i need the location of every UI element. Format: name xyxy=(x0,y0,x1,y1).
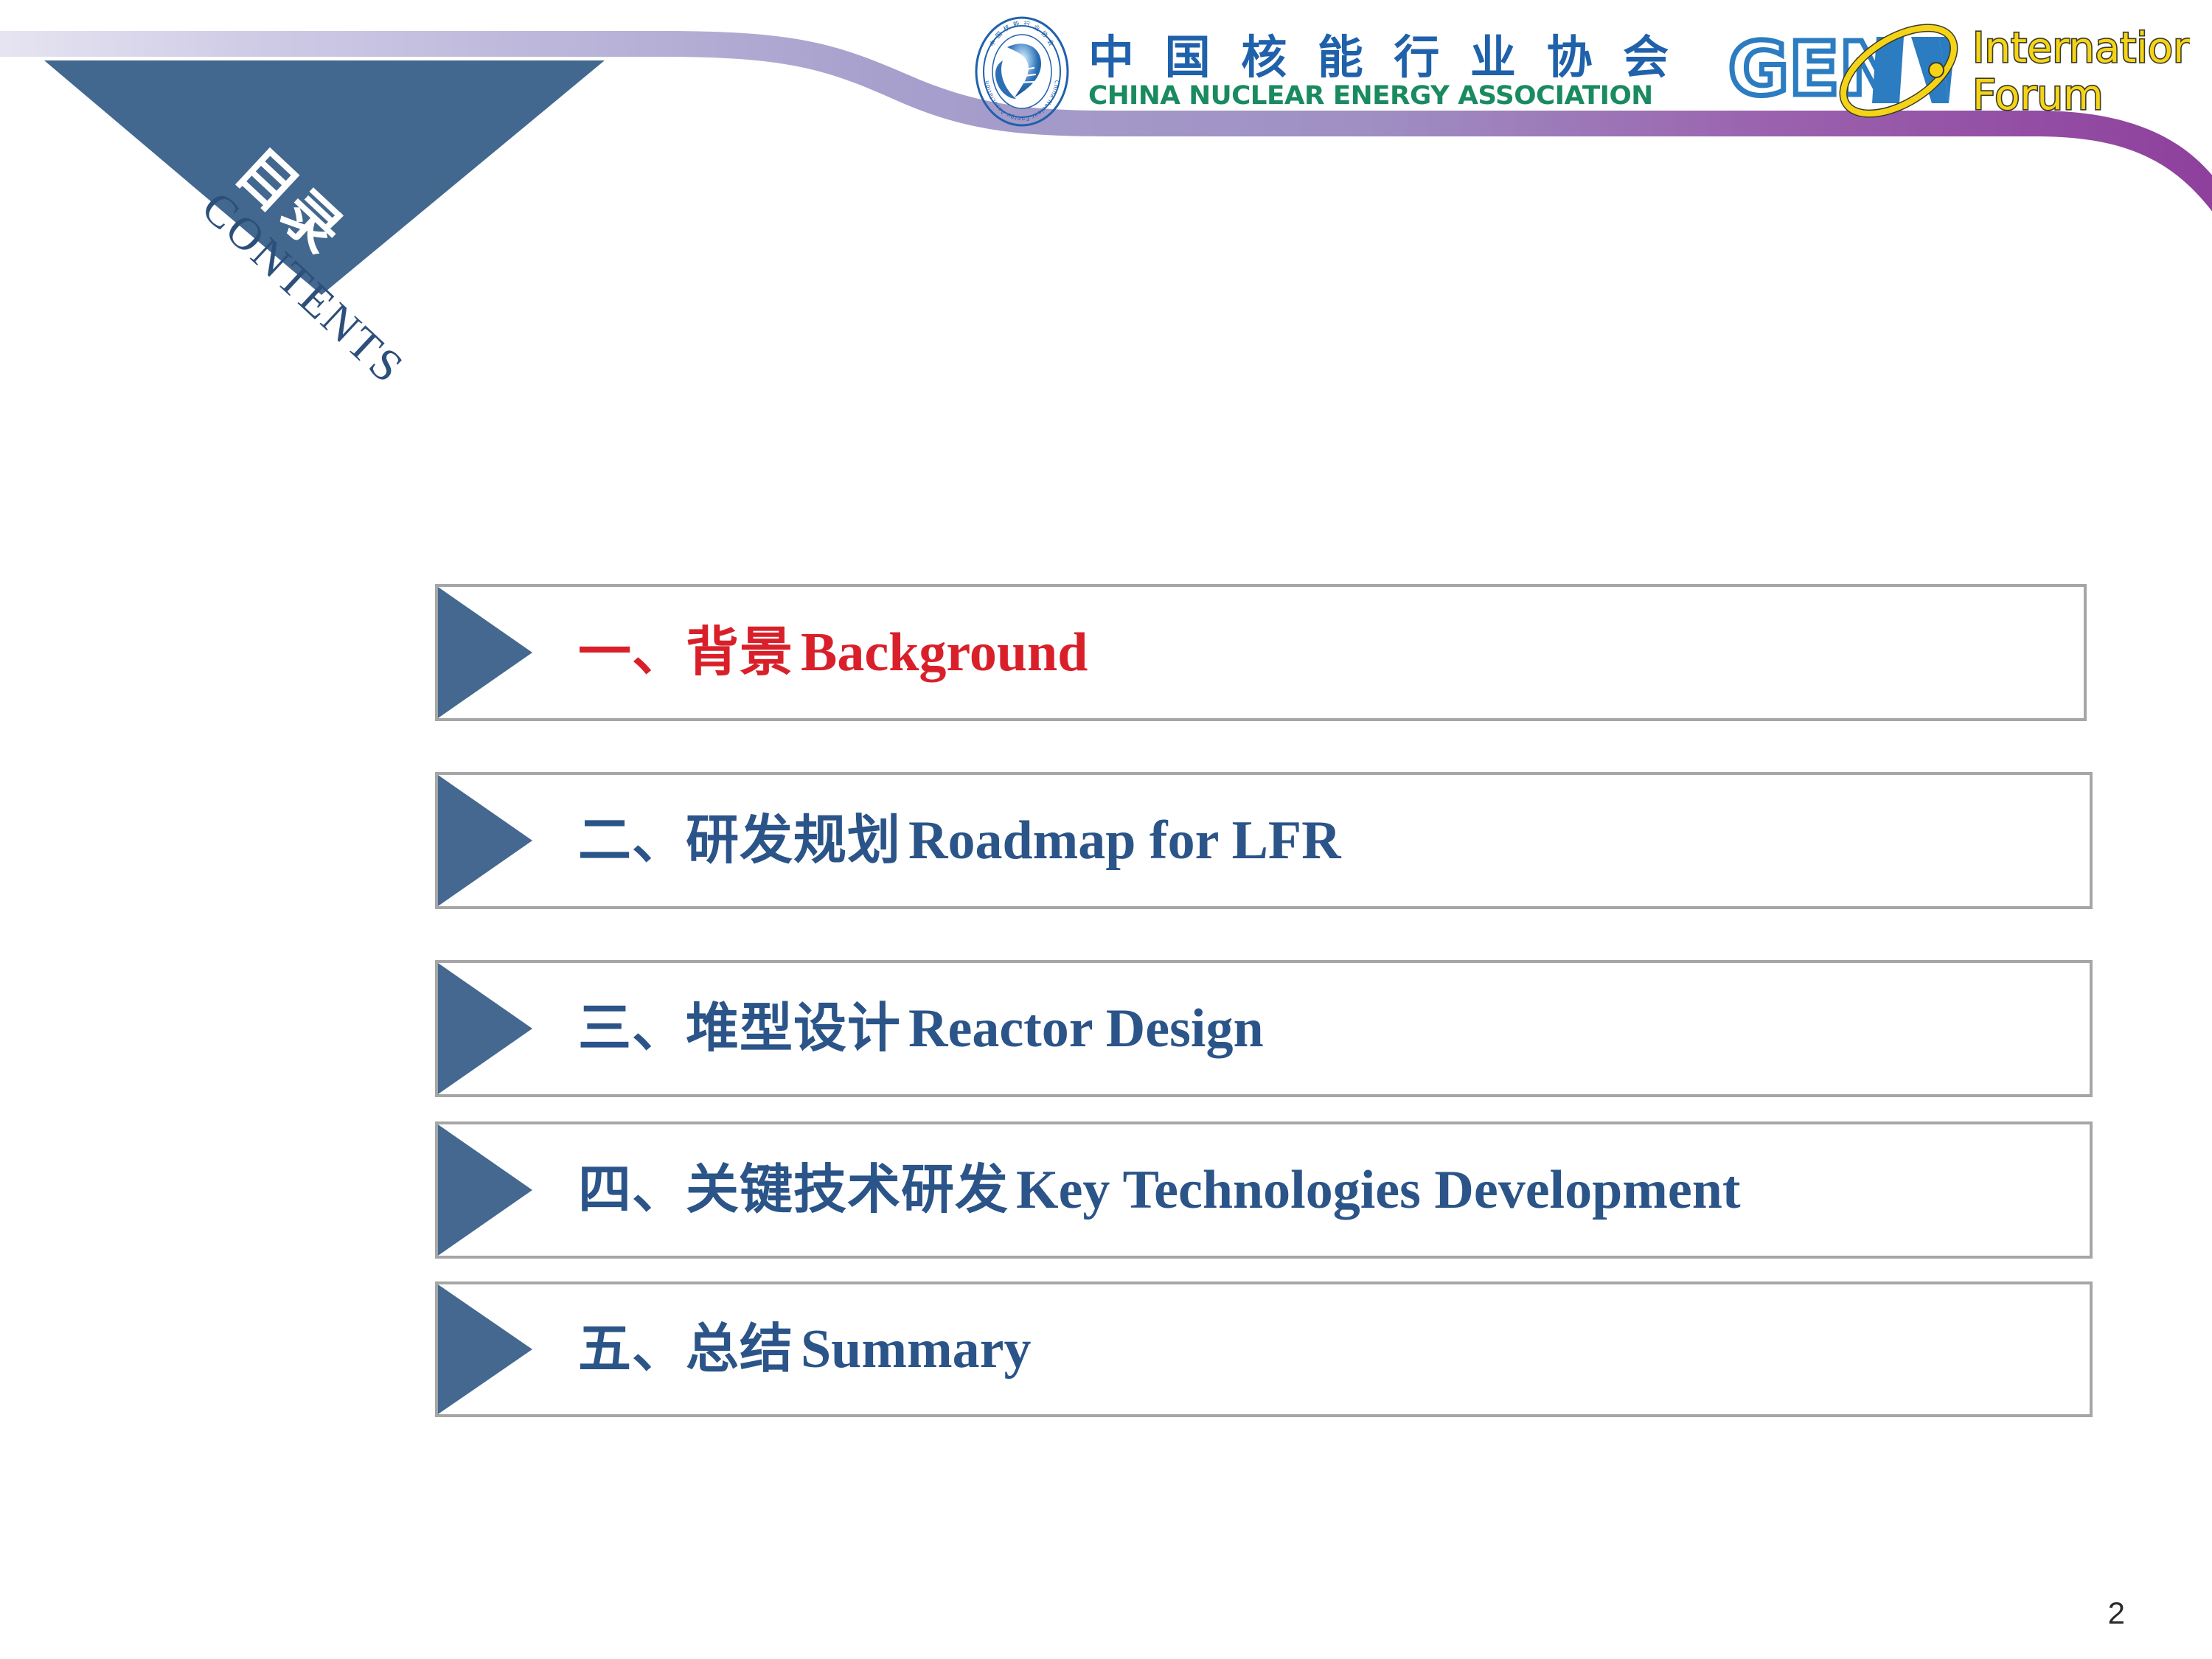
contents-row-2[interactable]: 二、研发规划Roadmap for LFR xyxy=(435,772,2093,909)
contents-row-5-index: 五、 xyxy=(578,1318,686,1380)
arrow-icon xyxy=(438,1124,549,1256)
contents-row-1-label: 一、背景Background xyxy=(578,625,1088,680)
contents-row-3-en: Reactor Design xyxy=(908,998,1264,1059)
contents-row-1-cn: 背景 xyxy=(686,621,793,683)
contents-row-5-cn: 总结 xyxy=(686,1318,793,1380)
contents-row-5[interactable]: 五、总结Summary xyxy=(435,1281,2093,1417)
page-number: 2 xyxy=(2108,1596,2125,1631)
arrow-icon xyxy=(438,775,549,906)
contents-row-1-en: Background xyxy=(801,622,1088,683)
contents-row-4-cn: 关键技术研发 xyxy=(686,1158,1009,1220)
contents-row-4-en: Key Technologies Development xyxy=(1016,1160,1741,1220)
contents-list: 一、背景Background 二、研发规划Roadmap for LFR 三、堆… xyxy=(0,0,2212,1659)
contents-row-5-en: Summary xyxy=(801,1319,1031,1380)
contents-row-3-index: 三、 xyxy=(578,997,686,1059)
contents-row-3-label: 三、堆型设计Reactor Design xyxy=(578,1001,1264,1056)
contents-row-1[interactable]: 一、背景Background xyxy=(435,584,2087,721)
contents-row-2-label: 二、研发规划Roadmap for LFR xyxy=(578,813,1341,868)
arrow-icon xyxy=(438,963,549,1094)
contents-row-3-cn: 堆型设计 xyxy=(686,997,901,1059)
arrow-icon xyxy=(438,587,549,718)
contents-row-3[interactable]: 三、堆型设计Reactor Design xyxy=(435,960,2093,1097)
contents-row-2-cn: 研发规划 xyxy=(686,809,901,871)
contents-row-5-label: 五、总结Summary xyxy=(578,1322,1031,1377)
contents-row-4-index: 四、 xyxy=(578,1158,686,1220)
contents-row-4-label: 四、关键技术研发Key Technologies Development xyxy=(578,1163,1741,1217)
arrow-icon xyxy=(438,1284,549,1414)
contents-row-2-index: 二、 xyxy=(578,809,686,871)
contents-row-4[interactable]: 四、关键技术研发Key Technologies Development xyxy=(435,1121,2093,1259)
contents-row-1-index: 一、 xyxy=(578,621,686,683)
contents-row-2-en: Roadmap for LFR xyxy=(908,810,1341,871)
